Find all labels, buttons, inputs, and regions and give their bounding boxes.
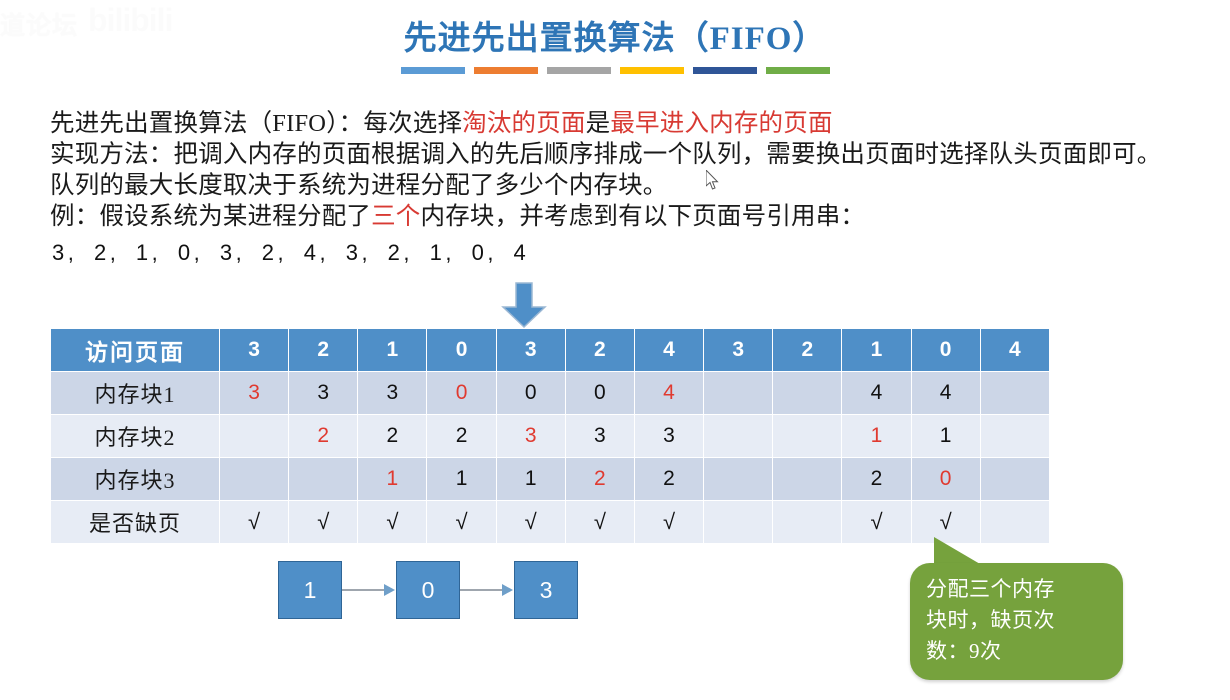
title-block: 先进先出置换算法（FIFO） — [0, 16, 1230, 74]
table-cell-r2-c3: 1 — [427, 458, 496, 501]
title-decoration-rules — [0, 67, 1230, 74]
table-cell-r2-c1 — [289, 458, 358, 501]
table-cell-r3-c6: √ — [634, 501, 703, 544]
table-row-label: 内存块2 — [51, 415, 220, 458]
arrow-head — [384, 584, 395, 596]
fifo-queue-diagram: 1 0 3 — [278, 560, 578, 620]
table-header-page-2: 1 — [358, 329, 427, 372]
table-header-page-3: 0 — [427, 329, 496, 372]
table-header-page-7: 3 — [704, 329, 773, 372]
arrow-shaft — [460, 589, 504, 591]
table-cell-r3-c4: √ — [496, 501, 565, 544]
table-cell-r0-c11 — [980, 372, 1049, 415]
queue-box-0: 1 — [278, 561, 342, 619]
table-row-label: 内存块1 — [51, 372, 220, 415]
definition-prefix: 先进先出置换算法（FIFO）：每次选择 — [50, 110, 462, 137]
table-cell-r0-c5: 0 — [565, 372, 634, 415]
table-cell-r1-c8 — [773, 415, 842, 458]
table-cell-r0-c4: 0 — [496, 372, 565, 415]
example-highlight: 三个 — [371, 203, 420, 230]
table-head: 访问页面 3 2 1 0 3 2 4 3 2 1 0 4 — [51, 329, 1050, 372]
definition-highlight-2: 最早进入内存的页面 — [610, 110, 832, 137]
table-header-page-0: 3 — [220, 329, 289, 372]
example-suffix: 内存块，并考虑到有以下页面号引用串： — [421, 203, 866, 230]
table-cell-r1-c11 — [980, 415, 1049, 458]
table-cell-r1-c1: 2 — [289, 415, 358, 458]
title-rule-6 — [766, 67, 830, 74]
reference-string: 3, 2, 1, 0, 3, 2, 4, 3, 2, 1, 0, 4 — [52, 240, 529, 266]
table-cell-r2-c0 — [220, 458, 289, 501]
table-header-row: 访问页面 3 2 1 0 3 2 4 3 2 1 0 4 — [51, 329, 1050, 372]
table-cell-r2-c2: 1 — [358, 458, 427, 501]
page-fault-callout: 分配三个内存 块时，缺页次 数：9次 — [910, 563, 1123, 680]
definition-mid: 是 — [586, 110, 611, 137]
method-line: 实现方法：把调入内存的页面根据调入的先后顺序排成一个队列，需要换出页面时选择队头… — [50, 139, 1190, 170]
table-cell-r2-c8 — [773, 458, 842, 501]
table-row: 内存块1333000444 — [51, 372, 1050, 415]
table-cell-r2-c7 — [704, 458, 773, 501]
callout-line-3: 数：9次 — [926, 636, 1112, 667]
title-rule-5 — [693, 67, 757, 74]
table-row: 内存块31112220 — [51, 458, 1050, 501]
table-cell-r3-c9: √ — [842, 501, 911, 544]
queue-box-1: 0 — [396, 561, 460, 619]
table-cell-r0-c8 — [773, 372, 842, 415]
table-header-page-6: 4 — [634, 329, 703, 372]
body-text: 先进先出置换算法（FIFO）：每次选择淘汰的页面是最早进入内存的页面 实现方法：… — [50, 108, 1190, 232]
table-cell-r0-c6: 4 — [634, 372, 703, 415]
table-header-page-5: 2 — [565, 329, 634, 372]
callout-text: 分配三个内存 块时，缺页次 数：9次 — [926, 574, 1112, 667]
page-title: 先进先出置换算法（FIFO） — [0, 16, 1230, 62]
table-cell-r0-c0: 3 — [220, 372, 289, 415]
table-row: 是否缺页√√√√√√√√√ — [51, 501, 1050, 544]
table-cell-r0-c2: 3 — [358, 372, 427, 415]
table-row: 内存块222233311 — [51, 415, 1050, 458]
table-cell-r3-c8 — [773, 501, 842, 544]
table-cell-r1-c3: 2 — [427, 415, 496, 458]
table-cell-r1-c4: 3 — [496, 415, 565, 458]
table-cell-r3-c0: √ — [220, 501, 289, 544]
table-cell-r1-c6: 3 — [634, 415, 703, 458]
callout-line-2: 块时，缺页次 — [926, 605, 1112, 636]
table-cell-r0-c9: 4 — [842, 372, 911, 415]
title-rule-4 — [620, 67, 684, 74]
table-cell-r2-c10: 0 — [911, 458, 980, 501]
table-header-page-11: 4 — [980, 329, 1049, 372]
table-cell-r3-c2: √ — [358, 501, 427, 544]
queue-box-2: 3 — [514, 561, 578, 619]
table-cell-r2-c11 — [980, 458, 1049, 501]
down-arrow-icon — [497, 281, 551, 329]
fifo-simulation-table: 访问页面 3 2 1 0 3 2 4 3 2 1 0 4 内存块13330004… — [50, 328, 1050, 544]
table-cell-r1-c0 — [220, 415, 289, 458]
table-cell-r0-c10: 4 — [911, 372, 980, 415]
table-body: 内存块1333000444内存块222233311内存块31112220是否缺页… — [51, 372, 1050, 544]
example-line: 例：假设系统为某进程分配了三个内存块，并考虑到有以下页面号引用串： — [50, 201, 1190, 232]
queue-arrow-0-icon — [342, 583, 396, 597]
table-cell-r2-c5: 2 — [565, 458, 634, 501]
table-header-label: 访问页面 — [51, 329, 220, 372]
table-cell-r3-c1: √ — [289, 501, 358, 544]
definition-highlight-1: 淘汰的页面 — [462, 110, 586, 137]
table-cell-r0-c1: 3 — [289, 372, 358, 415]
table-header-page-8: 2 — [773, 329, 842, 372]
table-cell-r0-c7 — [704, 372, 773, 415]
queue-length-line: 队列的最大长度取决于系统为进程分配了多少个内存块。 — [50, 170, 1190, 201]
queue-arrow-1-icon — [460, 583, 514, 597]
table-cell-r2-c6: 2 — [634, 458, 703, 501]
table-row-label: 是否缺页 — [51, 501, 220, 544]
table-cell-r2-c4: 1 — [496, 458, 565, 501]
callout-line-1: 分配三个内存 — [926, 574, 1112, 605]
table-cell-r1-c5: 3 — [565, 415, 634, 458]
title-rule-2 — [474, 67, 538, 74]
table-cell-r0-c3: 0 — [427, 372, 496, 415]
table-header-page-1: 2 — [289, 329, 358, 372]
arrow-shaft — [342, 589, 386, 591]
example-prefix: 例：假设系统为某进程分配了 — [50, 203, 371, 230]
table-cell-r3-c3: √ — [427, 501, 496, 544]
table-header-page-9: 1 — [842, 329, 911, 372]
title-rule-1 — [401, 67, 465, 74]
table-header-page-10: 0 — [911, 329, 980, 372]
table-cell-r3-c7 — [704, 501, 773, 544]
table-cell-r2-c9: 2 — [842, 458, 911, 501]
table-cell-r1-c10: 1 — [911, 415, 980, 458]
table-cell-r3-c5: √ — [565, 501, 634, 544]
table-row-label: 内存块3 — [51, 458, 220, 501]
table-header-page-4: 3 — [496, 329, 565, 372]
definition-line: 先进先出置换算法（FIFO）：每次选择淘汰的页面是最早进入内存的页面 — [50, 108, 1190, 139]
arrow-head — [502, 584, 513, 596]
table-cell-r1-c9: 1 — [842, 415, 911, 458]
table-cell-r1-c7 — [704, 415, 773, 458]
table-cell-r1-c2: 2 — [358, 415, 427, 458]
title-rule-3 — [547, 67, 611, 74]
